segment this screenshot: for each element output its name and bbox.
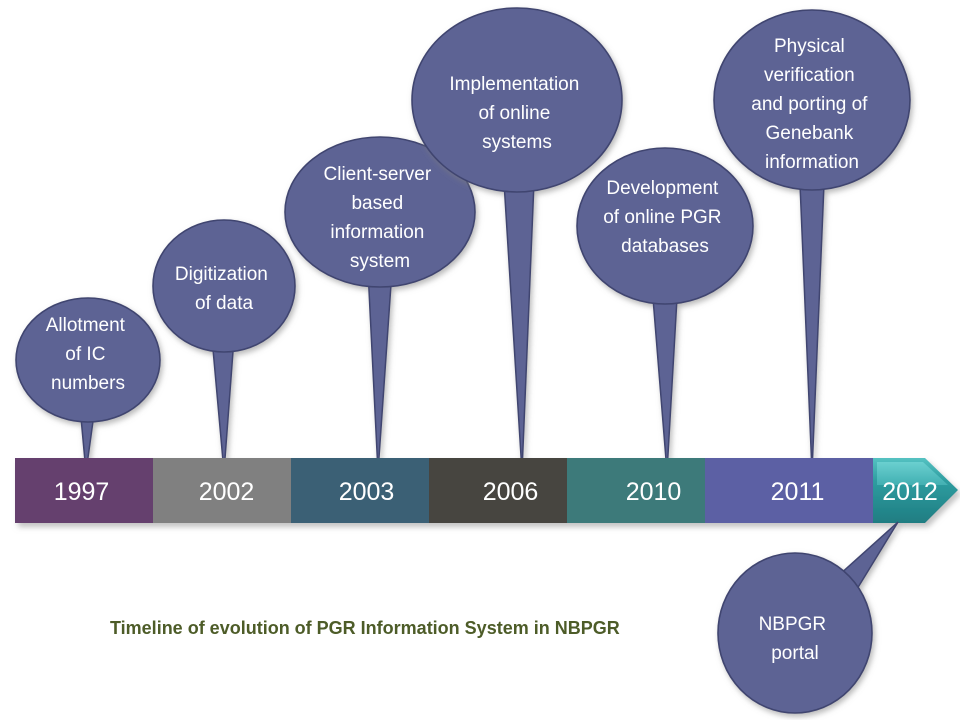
callout-ellipse-2006 xyxy=(412,8,622,192)
callout-tail-2003 xyxy=(368,270,392,472)
callout-tail-2002 xyxy=(212,338,234,472)
callout-tail-2010 xyxy=(653,298,677,472)
timeline-diagram-canvas: Allotment of IC numbers Digitization of … xyxy=(0,0,960,720)
callout-tail-2006 xyxy=(504,182,534,472)
diagram-caption: Timeline of evolution of PGR Information… xyxy=(110,618,620,638)
callout-tail-2011 xyxy=(800,184,824,472)
callout-bubble-2003[interactable] xyxy=(285,137,475,472)
callout-label-2010: Development of online PGR databases xyxy=(603,178,727,257)
timeline-svg: Allotment of IC numbers Digitization of … xyxy=(0,0,960,720)
callout-ellipse-2002 xyxy=(153,220,295,352)
callout-bubble-2002[interactable] xyxy=(153,220,295,472)
